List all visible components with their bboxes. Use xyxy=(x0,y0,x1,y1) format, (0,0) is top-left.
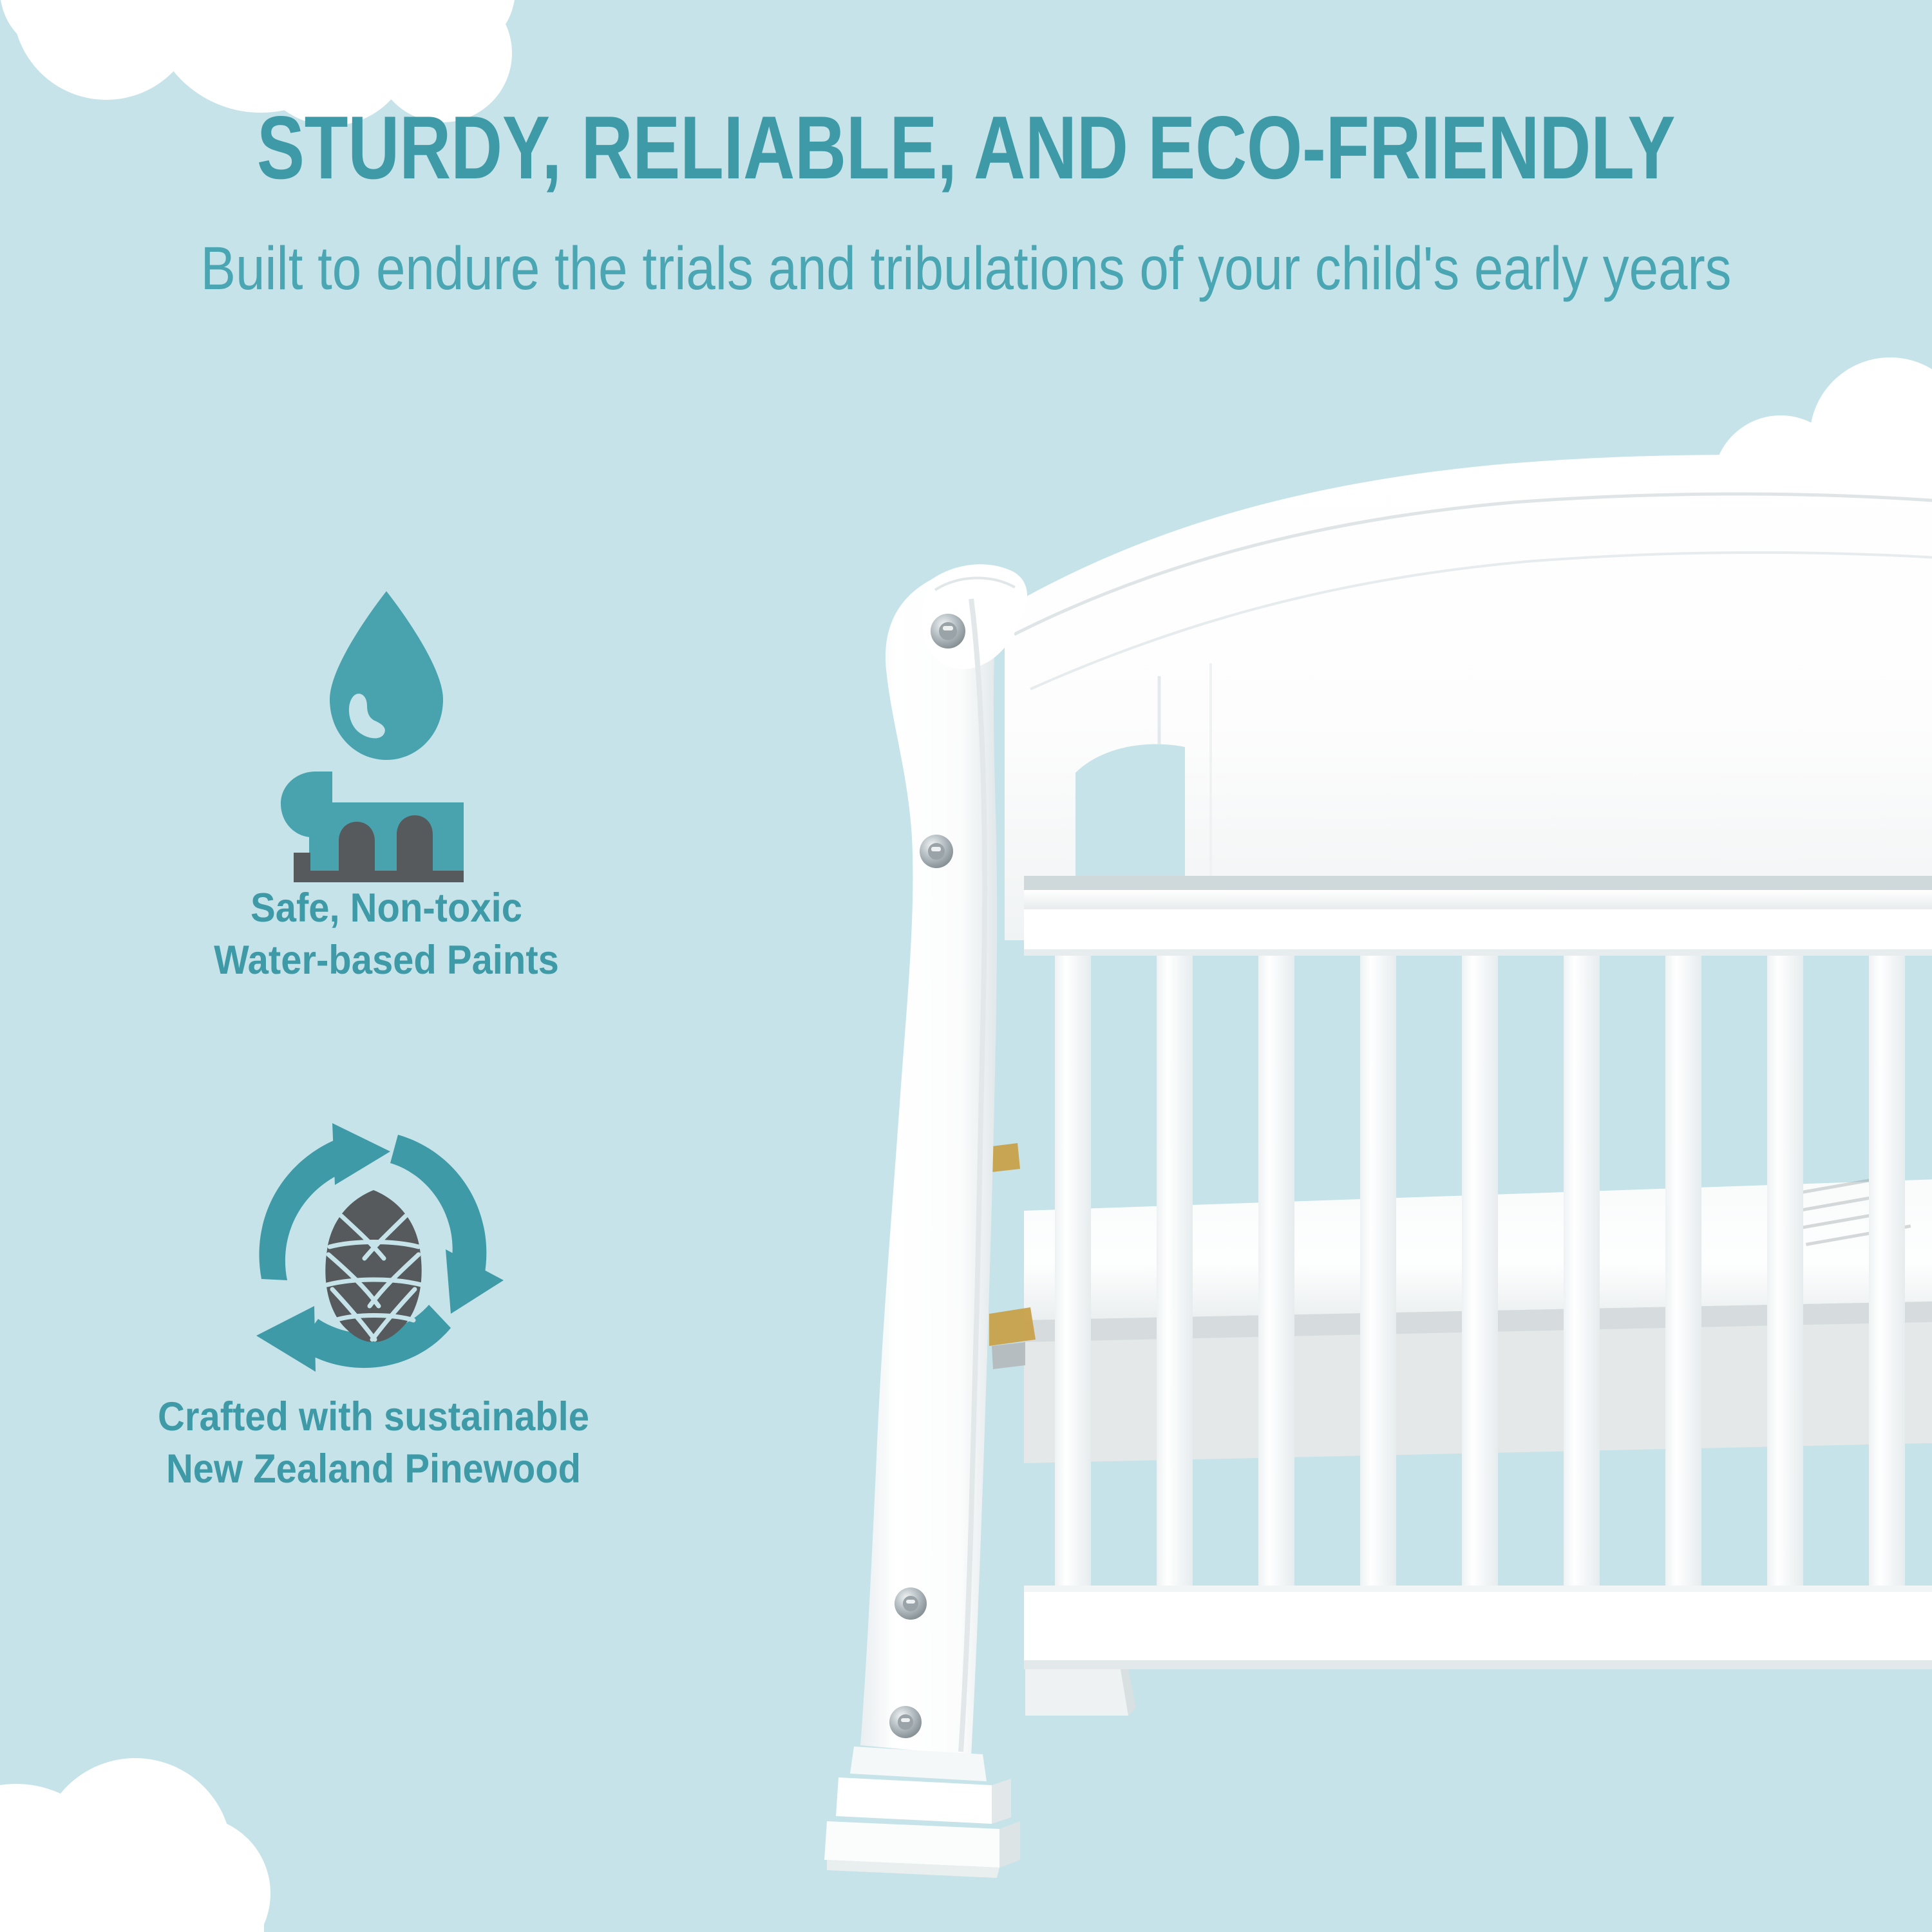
crib-foot xyxy=(824,1747,1020,1878)
crib-top-rail xyxy=(1024,876,1932,956)
feature-caption-line: Water-based Paints xyxy=(66,934,706,987)
page-title: STURDY, RELIABLE, AND ECO-FRIENDLY xyxy=(193,103,1739,193)
feature-caption: Safe, Non-toxic Water-based Paints xyxy=(66,882,706,986)
recycle-pinecone-icon xyxy=(238,1121,509,1391)
crib-product-image xyxy=(799,386,1932,1887)
post-screw xyxy=(889,1706,922,1738)
post-screw xyxy=(920,835,953,868)
feature-sustainable-pinewood: Crafted with sustainable New Zealand Pin… xyxy=(26,1121,721,1495)
post-screw xyxy=(895,1587,927,1620)
feature-caption: Crafted with sustainable New Zealand Pin… xyxy=(53,1391,694,1495)
infographic-canvas: STURDY, RELIABLE, AND ECO-FRIENDLY Built… xyxy=(0,0,1932,1932)
feature-caption-line: Crafted with sustainable xyxy=(53,1391,694,1443)
feature-caption-line: Safe, Non-toxic xyxy=(66,882,706,934)
feature-safe-paints: Safe, Non-toxic Water-based Paints xyxy=(39,580,734,986)
feature-caption-line: New Zealand Pinewood xyxy=(53,1443,694,1495)
post-screw xyxy=(931,614,965,649)
paintbrush-water-drop-icon xyxy=(270,580,502,882)
page-subtitle: Built to endure the trials and tribulati… xyxy=(135,238,1797,299)
crib-bottom-rail xyxy=(1024,1586,1932,1716)
cloud-bottom-left-icon xyxy=(0,1765,380,1932)
crib-slats-front xyxy=(1055,956,1905,1606)
